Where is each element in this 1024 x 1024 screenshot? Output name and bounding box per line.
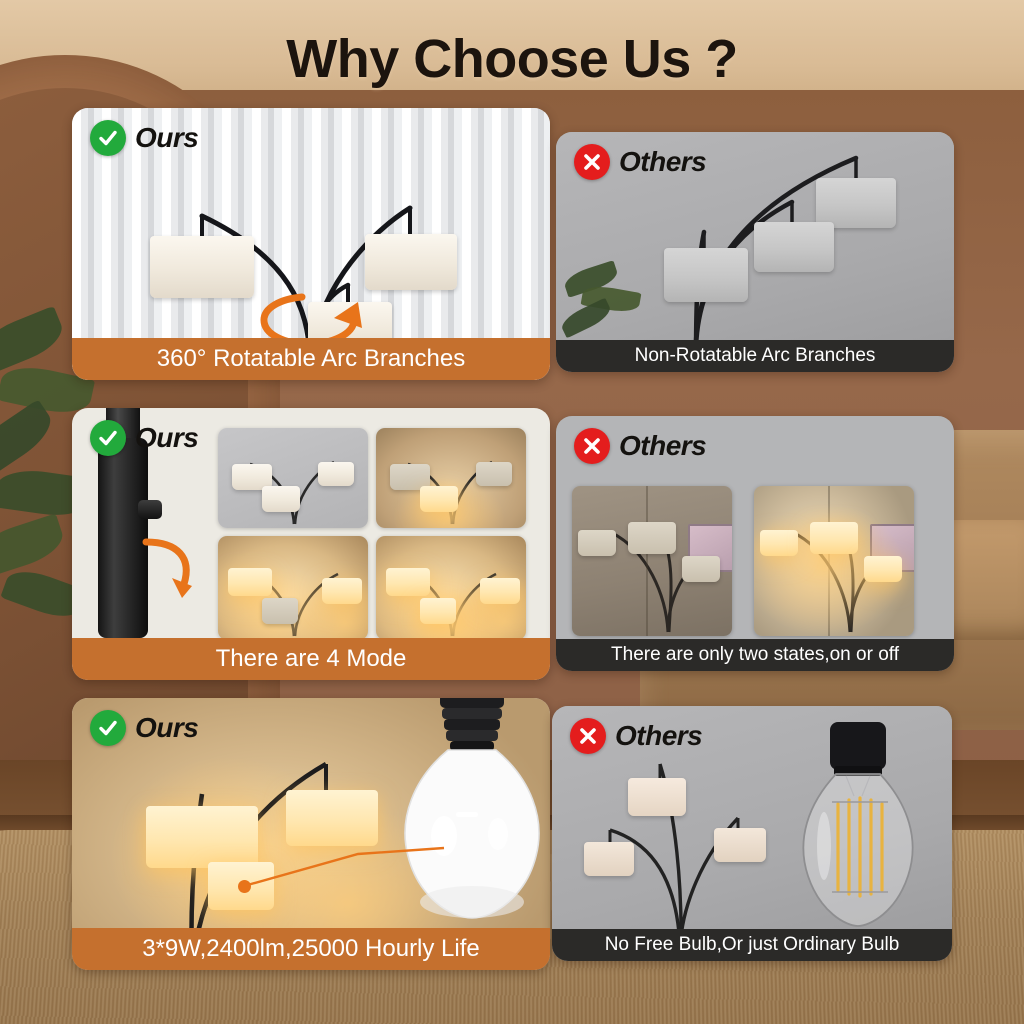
lamp-shade-right bbox=[365, 234, 457, 290]
caption-others-rotation: Non-Rotatable Arc Branches bbox=[556, 340, 954, 372]
badge-ours-row-3: Ours bbox=[90, 710, 198, 746]
caption-others-modes: There are only two states,on or off bbox=[556, 639, 954, 671]
mode-thumb-two-on bbox=[218, 536, 368, 640]
x-circle-icon bbox=[570, 718, 606, 754]
x-circle-icon bbox=[574, 144, 610, 180]
lamp-shade-gray-low bbox=[664, 248, 748, 302]
lamp-shade-top bbox=[628, 778, 686, 816]
comparison-card-ours-modes[interactable]: Ours There are 4 Mode bbox=[72, 408, 550, 680]
comparison-grid: Ours 360° Rotatable Arc Branches bbox=[0, 0, 1024, 1024]
lamp-shade-gray-top bbox=[816, 178, 896, 228]
comparison-card-ours-bulb[interactable]: Ours 3*9W,2400lm,25000 Hourly Life bbox=[72, 698, 550, 970]
badge-ours-row-2: Ours bbox=[90, 420, 198, 456]
badge-label-others: Others bbox=[619, 430, 706, 462]
edison-bulb-graphic bbox=[788, 714, 928, 944]
check-circle-icon bbox=[90, 120, 126, 156]
x-circle-icon bbox=[574, 428, 610, 464]
callout-dot bbox=[238, 880, 251, 893]
badge-ours-row-1: Ours bbox=[90, 120, 198, 156]
badge-others-row-1: Others bbox=[574, 144, 706, 180]
state-photo-on bbox=[754, 486, 914, 636]
badge-label-ours: Ours bbox=[135, 712, 198, 744]
comparison-card-ours-rotation[interactable]: Ours 360° Rotatable Arc Branches bbox=[72, 108, 550, 380]
curved-arrow-icon bbox=[134, 536, 204, 598]
lamp-shade-left bbox=[150, 236, 254, 298]
badge-label-others: Others bbox=[619, 146, 706, 178]
mode-thumb-all-on bbox=[376, 536, 526, 640]
comparison-card-others-modes[interactable]: Others There are only two states,on or o… bbox=[556, 416, 954, 671]
comparison-card-others-rotation[interactable]: Others Non-Rotatable Arc Branches bbox=[556, 132, 954, 372]
plant-decor bbox=[560, 262, 652, 336]
lamp-shade-low bbox=[584, 842, 634, 876]
badge-label-ours: Ours bbox=[135, 422, 198, 454]
lamp-shade-gray-mid bbox=[754, 222, 834, 272]
badge-label-ours: Ours bbox=[135, 122, 198, 154]
check-circle-icon bbox=[90, 420, 126, 456]
badge-others-row-2: Others bbox=[574, 428, 706, 464]
badge-label-others: Others bbox=[615, 720, 702, 752]
state-photo-off bbox=[572, 486, 732, 636]
caption-ours-modes: There are 4 Mode bbox=[72, 638, 550, 680]
foot-switch-knob bbox=[138, 500, 162, 519]
caption-ours-rotation: 360° Rotatable Arc Branches bbox=[72, 338, 550, 380]
check-circle-icon bbox=[90, 710, 126, 746]
badge-others-row-3: Others bbox=[570, 718, 702, 754]
comparison-card-others-bulb[interactable]: Others No Free Bulb,Or just Ordinary Bul… bbox=[552, 706, 952, 961]
lamp-shade-mid bbox=[714, 828, 766, 862]
mode-thumb-one-on bbox=[376, 428, 526, 528]
mode-thumb-all-off bbox=[218, 428, 368, 528]
